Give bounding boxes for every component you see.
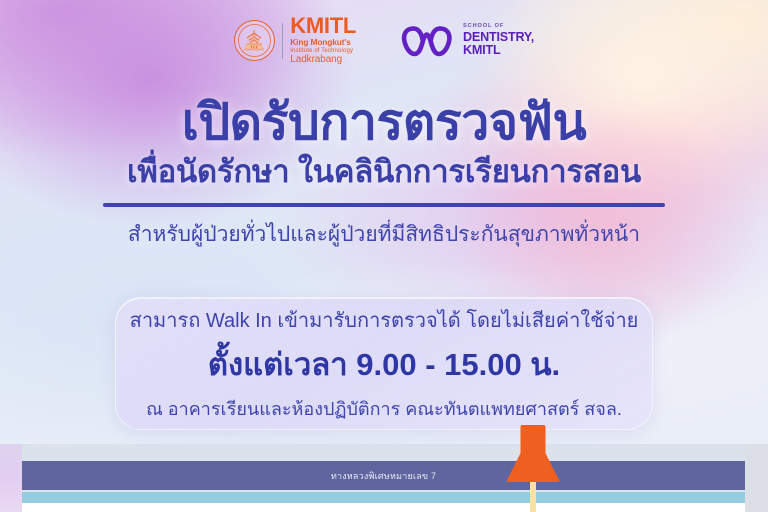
logo-bar: KMITL King Mongkut's Institute of Techno…	[0, 16, 768, 65]
map-right-margin	[745, 444, 768, 512]
logo-divider	[282, 23, 283, 59]
map-strip: ทางหลวงพิเศษหมายเลข 7	[0, 444, 768, 512]
kmitl-name: KMITL	[290, 16, 356, 36]
kmitl-tagline-3: Ladkrabang	[290, 55, 356, 65]
info-location-text: ณ อาคารเรียนและห้องปฏิบัติการ คณะทันตแพท…	[146, 394, 622, 423]
kmitl-tagline-1: King Mongkut's	[290, 38, 356, 46]
pin-cap	[521, 425, 546, 457]
info-hours-text: ตั้งแต่เวลา 9.00 - 15.00 น.	[208, 339, 560, 389]
headline-divider	[103, 203, 665, 207]
kmitl-seal-emblem-icon	[241, 28, 267, 54]
kmitl-seal-icon	[234, 20, 275, 61]
dentistry-affiliation: KMITL	[463, 44, 534, 57]
map-water-band	[22, 492, 745, 503]
map-ground-band	[22, 503, 745, 512]
kmitl-logo: KMITL King Mongkut's Institute of Techno…	[234, 16, 356, 65]
info-card: สามารถ Walk In เข้ามารับการตรวจได้ โดยไม…	[115, 297, 653, 430]
headline-primary: เปิดรับการตรวจฟัน	[0, 96, 768, 149]
dentistry-wordmark: SCHOOL OF DENTISTRY, KMITL	[463, 24, 534, 57]
kmitl-wordmark: KMITL King Mongkut's Institute of Techno…	[290, 16, 356, 65]
headline-subtitle: สำหรับผู้ป่วยทั่วไปและผู้ป่วยที่มีสิทธิป…	[0, 218, 768, 251]
location-pin-icon	[502, 430, 564, 512]
map-left-margin	[0, 444, 22, 512]
dentistry-school-of: SCHOOL OF	[463, 24, 534, 30]
map-highway-label: ทางหลวงพิเศษหมายเลข 7	[22, 469, 745, 483]
headline-block: เปิดรับการตรวจฟัน เพื่อนัดรักษา ในคลินิก…	[0, 96, 768, 251]
tooth-logo-icon	[400, 22, 454, 60]
map-highway-band: ทางหลวงพิเศษหมายเลข 7	[22, 461, 745, 490]
info-walkin-text: สามารถ Walk In เข้ามารับการตรวจได้ โดยไม…	[130, 304, 639, 336]
dentistry-logo: SCHOOL OF DENTISTRY, KMITL	[400, 22, 534, 60]
poster-root: KMITL King Mongkut's Institute of Techno…	[0, 0, 768, 512]
headline-secondary: เพื่อนัดรักษา ในคลินิกการเรียนการสอน	[0, 153, 768, 190]
